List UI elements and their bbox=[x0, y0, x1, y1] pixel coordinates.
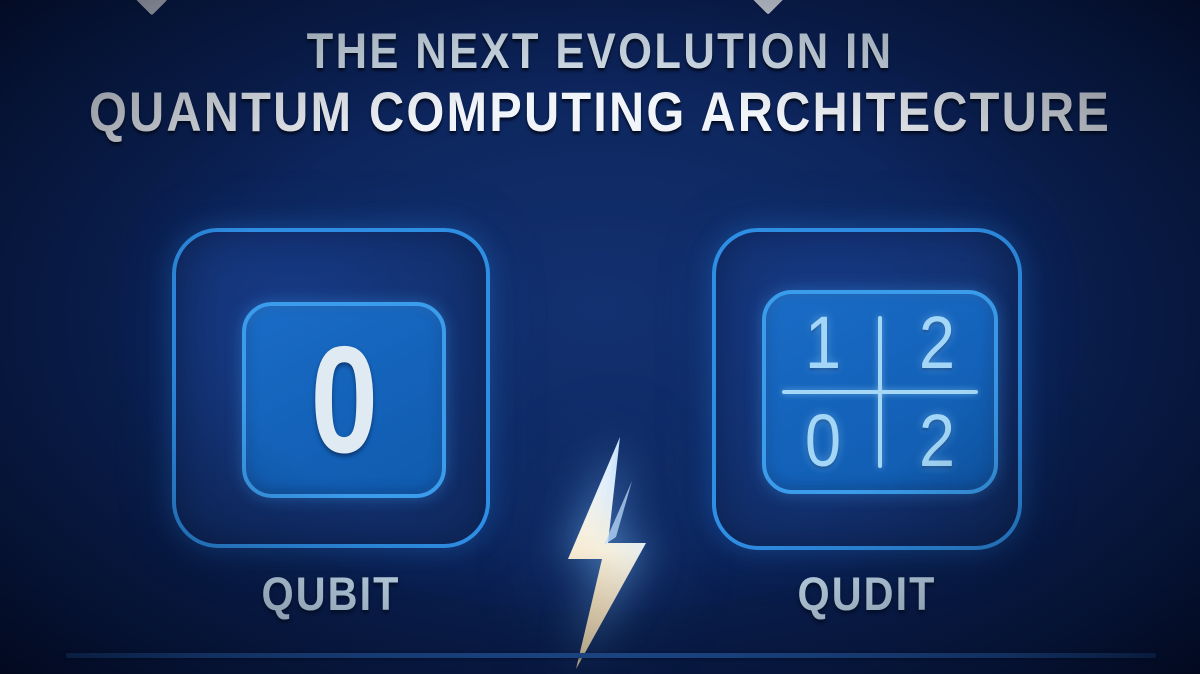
qudit-cell-bottom-right: 2 bbox=[887, 392, 987, 490]
page-title: THE NEXT EVOLUTION IN QUANTUM COMPUTING … bbox=[0, 22, 1200, 144]
qudit-cell-top-left: 1 bbox=[773, 294, 873, 392]
comparison-row: 0 bbox=[0, 228, 1200, 558]
qudit-cell-bottom-left: 0 bbox=[773, 392, 873, 490]
qubit-caption: QUBIT bbox=[191, 568, 471, 620]
qudit-caption: QUDIT bbox=[731, 568, 1004, 620]
qudit-state-grid: 1 2 0 2 bbox=[766, 294, 994, 490]
slide-canvas: THE NEXT EVOLUTION IN QUANTUM COMPUTING … bbox=[0, 0, 1200, 674]
cropped-glyph-fragment-left bbox=[131, 0, 168, 15]
lightning-bolt-icon bbox=[546, 433, 666, 673]
qubit-inner-square: 0 bbox=[242, 302, 446, 498]
qudit-inner-square: 1 2 0 2 bbox=[762, 290, 998, 494]
qubit-card[interactable]: 0 bbox=[172, 228, 490, 548]
cropped-glyph-fragment-right bbox=[748, 0, 783, 15]
footer-divider bbox=[66, 653, 1156, 658]
qudit-card[interactable]: 1 2 0 2 bbox=[712, 228, 1022, 550]
headline-line-2: QUANTUM COMPUTING ARCHITECTURE bbox=[78, 80, 1122, 144]
qubit-value: 0 bbox=[310, 325, 378, 475]
qubit-card-group: 0 bbox=[172, 228, 490, 548]
grid-divider-horizontal bbox=[782, 390, 978, 394]
headline-line-1: THE NEXT EVOLUTION IN bbox=[78, 22, 1122, 80]
qudit-card-group: 1 2 0 2 bbox=[712, 228, 1022, 550]
qudit-cell-top-right: 2 bbox=[887, 294, 987, 392]
